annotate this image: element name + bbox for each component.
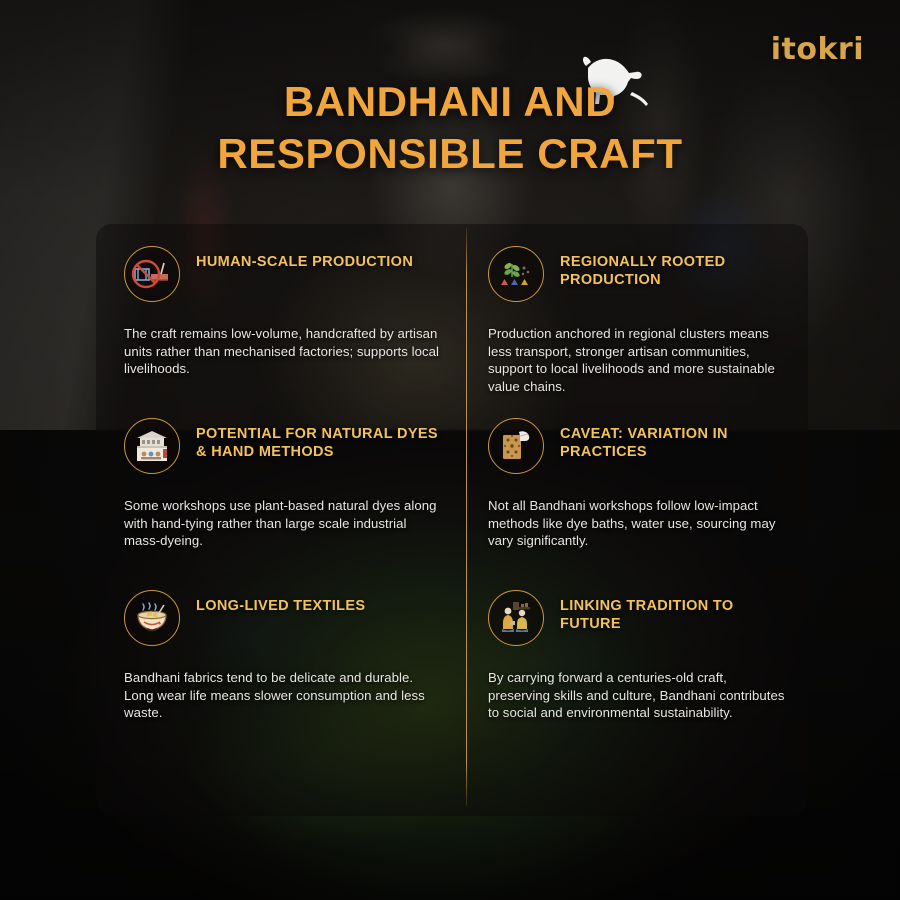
workshop-building-icon <box>124 418 180 474</box>
card-body: Bandhani fabrics tend to be delicate and… <box>124 669 442 722</box>
card-title: REGIONALLY ROOTED PRODUCTION <box>560 246 790 290</box>
title-line-2: RESPONSIBLE CRAFT <box>90 128 810 180</box>
card-title: LINKING TRADITION TO FUTURE <box>560 590 790 634</box>
page-title: BANDHANI AND RESPONSIBLE CRAFT <box>0 76 900 180</box>
card-header: LONG-LIVED TEXTILES <box>124 590 442 652</box>
card-human-scale-production[interactable]: HUMAN-SCALE PRODUCTION The craft remains… <box>96 224 466 396</box>
card-body: Production anchored in regional clusters… <box>488 325 790 395</box>
itokri-logo: itokri <box>771 32 864 67</box>
two-artisans-icon <box>488 590 544 646</box>
card-body: By carrying forward a centuries-old craf… <box>488 669 790 722</box>
card-title: LONG-LIVED TEXTILES <box>196 590 365 616</box>
card-long-lived-textiles[interactable]: LONG-LIVED TEXTILES Bandhani fabrics ten… <box>96 568 466 816</box>
dye-pot-icon <box>124 590 180 646</box>
card-title: CAVEAT: VARIATION IN PRACTICES <box>560 418 790 462</box>
card-title: HUMAN-SCALE PRODUCTION <box>196 246 413 272</box>
hand-holding-fabric-icon <box>488 418 544 474</box>
card-body: The craft remains low-volume, handcrafte… <box>124 325 442 378</box>
card-potential-for-natural-dyes[interactable]: POTENTIAL FOR NATURAL DYES & HAND METHOD… <box>96 396 466 568</box>
card-body: Not all Bandhani workshops follow low-im… <box>488 497 790 550</box>
plant-dye-powders-icon <box>488 246 544 302</box>
card-header: CAVEAT: VARIATION IN PRACTICES <box>488 418 790 480</box>
card-regionally-rooted-production[interactable]: REGIONALLY ROOTED PRODUCTION Production … <box>466 224 808 396</box>
infographic-canvas: itokri BANDHANI AND RESPONSIBLE CRAFT <box>0 0 900 900</box>
card-title: POTENTIAL FOR NATURAL DYES & HAND METHOD… <box>196 418 442 462</box>
card-linking-tradition-to-future[interactable]: LINKING TRADITION TO FUTURE By carrying … <box>466 568 808 816</box>
card-header: REGIONALLY ROOTED PRODUCTION <box>488 246 790 308</box>
no-factory-icon <box>124 246 180 302</box>
card-caveat-variation-in-practices[interactable]: CAVEAT: VARIATION IN PRACTICES Not all B… <box>466 396 808 568</box>
content-panel: HUMAN-SCALE PRODUCTION The craft remains… <box>96 224 808 816</box>
card-header: HUMAN-SCALE PRODUCTION <box>124 246 442 308</box>
card-header: POTENTIAL FOR NATURAL DYES & HAND METHOD… <box>124 418 442 480</box>
card-body: Some workshops use plant-based natural d… <box>124 497 442 550</box>
title-line-1: BANDHANI AND <box>90 76 810 128</box>
cards-grid: HUMAN-SCALE PRODUCTION The craft remains… <box>96 224 808 816</box>
card-header: LINKING TRADITION TO FUTURE <box>488 590 790 652</box>
